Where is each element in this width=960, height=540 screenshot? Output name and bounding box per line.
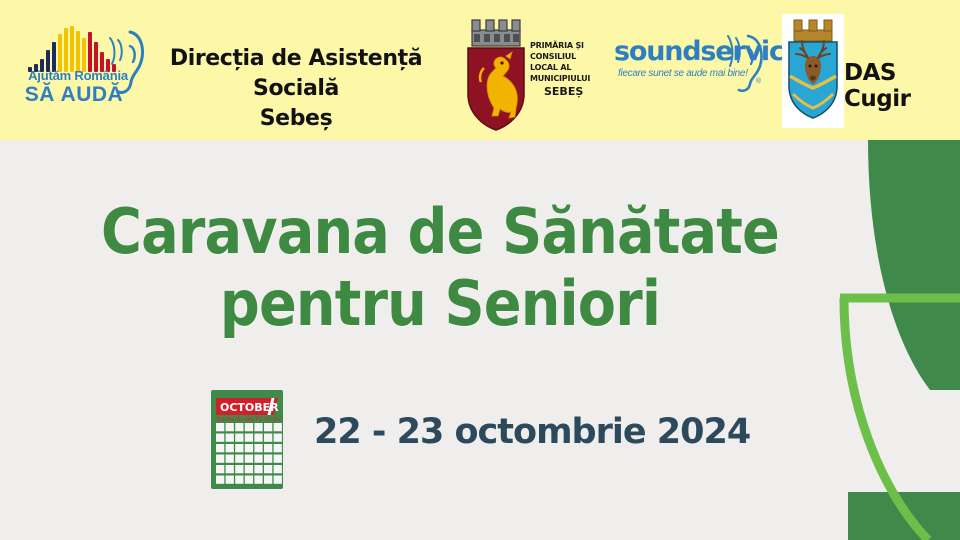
event-date-row: OCTOBER SuMoTu WeThFrSa [208,386,678,496]
svg-text:Th: Th [255,417,262,423]
logo-das-cugir: DAS Cugir [782,14,957,130]
svg-text:Sa: Sa [273,417,280,423]
das-cugir-label: DAS Cugir [844,60,957,112]
page-title-line1: Caravana de Sănătate [98,196,782,268]
svg-text:OCTOBER: OCTOBER [220,401,279,414]
svg-text:Mo: Mo [226,417,235,423]
logo-ajutam-line2: SĂ AUDĂ [16,83,132,107]
svg-text:We: We [245,417,254,423]
page-title: Caravana de Sănătate pentru Seniori [60,196,820,340]
sebes-coat-of-arms-icon [462,16,530,132]
logo-ajutam-romania-sa-auda: Ajutăm România SĂ AUDĂ [14,24,142,116]
sebes-logo-text: PRIMĂRIA ȘI CONSILIUL LOCAL AL MUNICIPIU… [530,40,614,97]
organizer-title: Direcția de Asistență Socială Sebeș [146,44,446,134]
logo-primaria-sebes: PRIMĂRIA ȘI CONSILIUL LOCAL AL MUNICIPIU… [462,16,612,132]
registered-mark-icon: ® [756,78,761,85]
organizer-title-line2: Sebeș [146,104,446,134]
sebes-logo-line3: SEBEȘ [544,86,614,97]
cugir-coat-of-arms-icon [782,14,844,128]
sebes-logo-line2: LOCAL AL MUNICIPIULUI [530,63,590,83]
svg-text:Fr: Fr [265,417,271,423]
header-banner: Ajutăm România SĂ AUDĂ Direcția de Asist… [0,0,960,140]
logo-ajutam-line1: Ajutăm România [18,68,138,83]
decoration-light-green-curve [820,290,960,540]
sebes-logo-line1: PRIMĂRIA ȘI CONSILIUL [530,41,584,61]
soundservice-name: soundservice [614,36,801,67]
page-title-line2: pentru Seniori [98,268,782,340]
calendar-icon: OCTOBER SuMoTu WeThFrSa [208,386,286,492]
svg-text:Su: Su [217,417,225,423]
logo-soundservice: soundservice fiecare sunet se aude mai b… [614,30,770,92]
event-date-text: 22 - 23 octombrie 2024 [314,412,750,452]
poster-canvas: Ajutăm România SĂ AUDĂ Direcția de Asist… [0,0,960,540]
organizer-title-line1: Direcția de Asistență Socială [146,44,446,104]
svg-text:Tu: Tu [236,417,243,423]
